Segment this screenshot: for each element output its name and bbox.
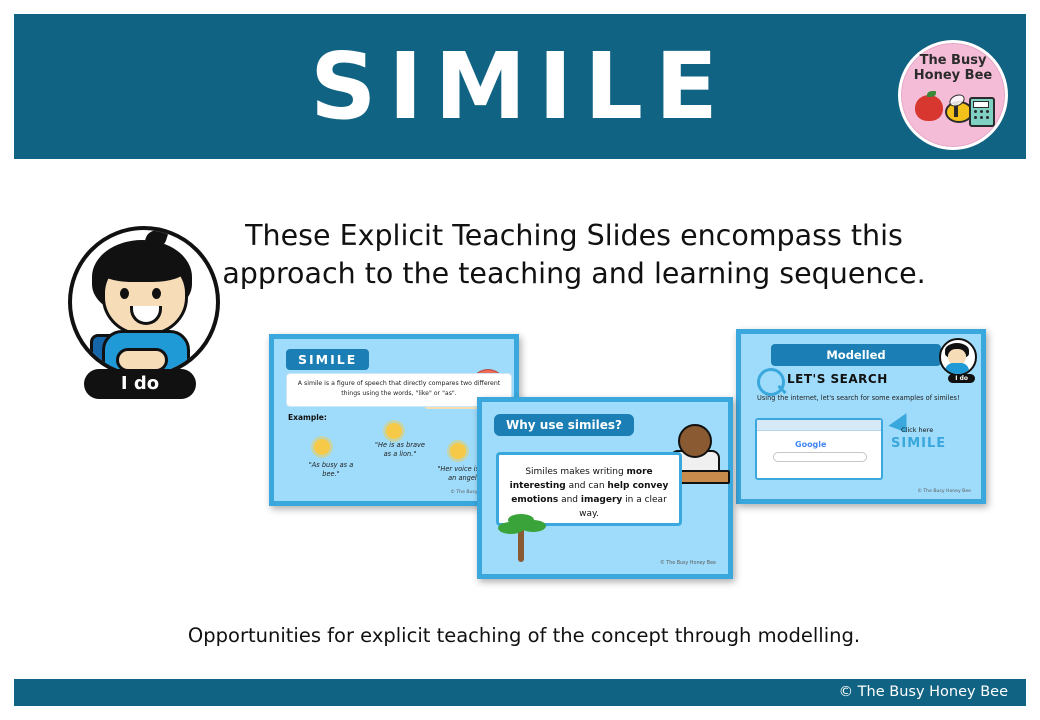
slide-2-body-part: and [558,495,581,505]
calculator-key-icon [974,116,977,119]
magnifier-icon [757,368,785,396]
page: SIMILE The Busy Honey Bee [0,0,1040,720]
poster-frame: SIMILE The Busy Honey Bee [14,14,1026,706]
calculator-key-icon [980,116,983,119]
browser-search-input[interactable] [773,452,867,462]
slide-2-body-emphasis: imagery [581,495,622,505]
slide-2-body-part: and can [566,481,608,491]
calculator-key-icon [986,110,989,113]
brand-logo-text: The Busy Honey Bee [901,53,1005,83]
slide-3-title: Modelled [771,344,941,366]
palm-leaf-icon [508,514,534,526]
slide-1-example-label: Example: [288,413,327,422]
slide-2-canvas: Why use similes? Similes makes writing m… [482,402,728,574]
calculator-key-icon [980,110,983,113]
avatar-eye-left-icon [120,288,129,299]
avatar-fringe-icon [99,252,185,282]
footer-band: © The Busy Honey Bee [14,679,1026,706]
slide-3-link-label[interactable]: SIMILE [891,436,946,451]
sun-icon [314,439,330,455]
slide-2-title: Why use similes? [494,414,634,436]
persona-i-do: I do [60,226,220,416]
header-band: SIMILE The Busy Honey Bee [14,14,1026,159]
intro-line-2: approach to the teaching and learning se… [194,255,954,293]
intro-text: These Explicit Teaching Slides encompass… [194,217,954,293]
apple-icon [915,95,943,121]
slide-1-quote: "As busy as a bee." [300,461,362,479]
brand-logo: The Busy Honey Bee [898,40,1008,150]
slide-3-canvas: Modelled LET'S SEARCH Using the internet… [741,334,981,499]
slide-3-subtext: Using the internet, let's search for som… [757,394,967,404]
body-area: These Explicit Teaching Slides encompass… [14,159,1026,679]
slide-3-badge: I do [948,374,975,383]
sun-icon [386,423,402,439]
browser-mockup: Google [755,418,883,480]
student-head-icon [678,424,712,458]
calculator-key-icon [986,116,989,119]
browser-toolbar [757,420,881,431]
slide-3-click-here: Click here [901,426,933,434]
calculator-key-icon [974,110,977,113]
brand-line-2: Honey Bee [914,68,992,83]
intro-line-1: These Explicit Teaching Slides encompass… [194,217,954,255]
footer-note: Opportunities for explicit teaching of t… [74,624,974,647]
slide-3-heading: LET'S SEARCH [787,372,888,386]
calculator-screen-icon [973,101,989,108]
calculator-icon [969,97,995,127]
footer-credit: © The Busy Honey Bee [839,679,1008,706]
page-title: SIMILE [14,32,1026,142]
palm-tree-icon [518,528,524,562]
slide-1-quote: "He is as brave as a lion." [372,441,428,459]
slide-thumbnail-why-use-similes[interactable]: Why use similes? Similes makes writing m… [477,397,733,579]
student-avatar-icon [939,338,977,376]
browser-logo: Google [795,440,826,449]
slide-2-body-part: Similes makes writing [525,467,626,477]
slide-2-credit: © The Busy Honey Bee [660,561,716,566]
persona-label: I do [84,369,196,399]
slide-thumbnail-modelled[interactable]: Modelled LET'S SEARCH Using the internet… [736,329,986,504]
avatar-eye-right-icon [152,288,161,299]
slide-3-credit: © The Busy Honey Bee [917,489,971,494]
sun-icon [450,443,466,459]
student-avatar-icon [68,226,220,378]
slide-1-title: SIMILE [286,349,369,370]
brand-line-1: The Busy [920,53,987,68]
